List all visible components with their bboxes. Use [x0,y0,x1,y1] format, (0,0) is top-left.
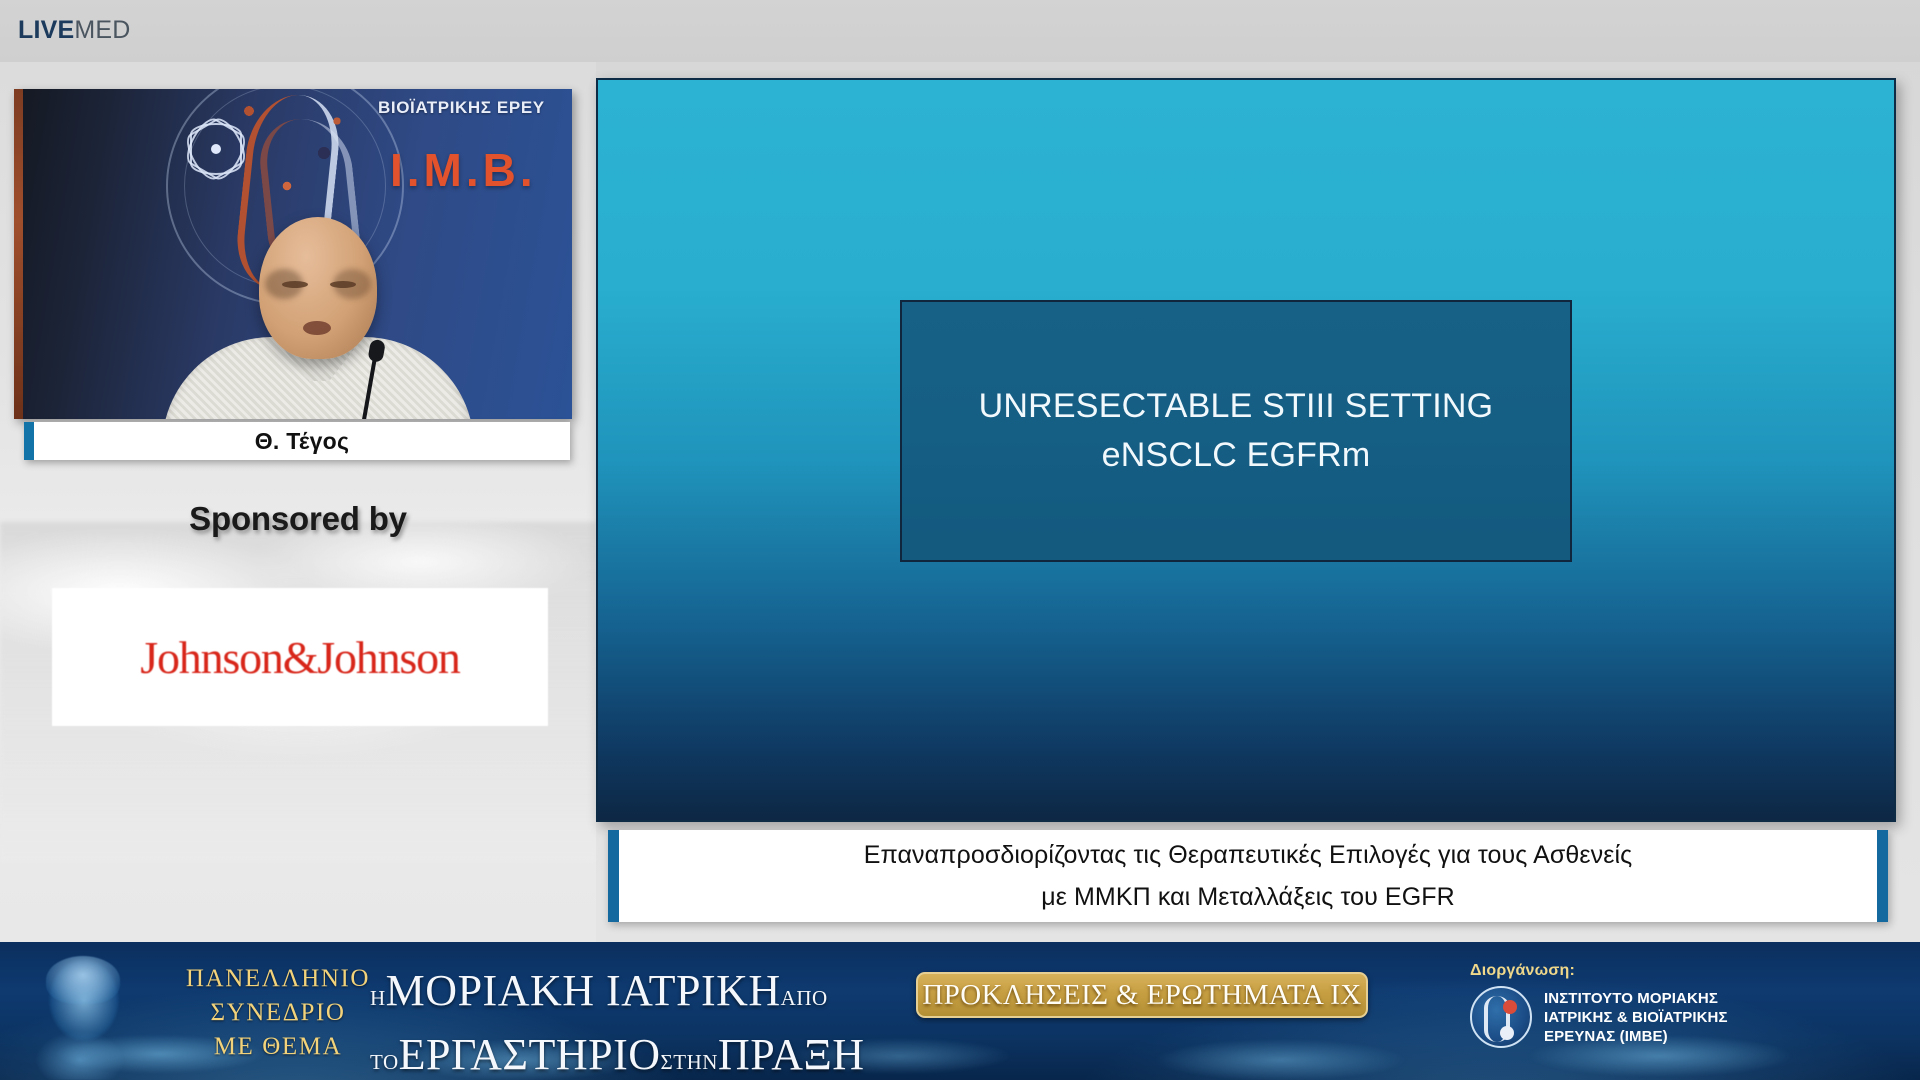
speaker-video-tile[interactable]: ΒΙΟΪΑΤΡΙΚΗΣ ΕΡΕΥ I.M.B. [14,89,572,419]
brand-strong: LIVE [18,16,74,44]
backdrop-line-2: ΒΙΟΪΑΤΡΙΚΗΣ ΕΡΕΥ [378,95,572,121]
speaker-video-frame: ΒΙΟΪΑΤΡΙΚΗΣ ΕΡΕΥ I.M.B. [14,89,572,419]
imbe-seal-icon [1470,986,1532,1048]
conference-subtitle-line-2: ΣΥΝΕΔΡΙΟ [168,996,388,1030]
speaker-name: Θ. Τέγος [255,428,350,455]
session-title-line-2: με ΜΜΚΠ και Μεταλλάξεις του EGFR [1041,876,1455,918]
session-title-bar: Επαναπροσδιορίζοντας τις Θεραπευτικές Επ… [608,830,1888,922]
conference-title: ΗΜΟΡΙΑΚΗ ΙΑΤΡΙΚΗΑΠΟ ΤΟΕΡΓΑΣΤΗΡΙΟΣΤΗΝΠΡΑΞ… [370,964,850,1080]
backdrop-acronym: I.M.B. [390,143,537,197]
session-title-line-1: Επαναπροσδιορίζοντας τις Θεραπευτικές Επ… [864,834,1633,876]
conference-title-main-3: ΠΡΑΞΗ [718,1030,865,1079]
conference-title-row-2: ΤΟΕΡΓΑΣΤΗΡΙΟΣΤΗΝΠΡΑΞΗ [370,1028,850,1080]
atom-icon [184,117,248,181]
presentation-slide[interactable]: UNRESECTABLE STIII SETTING eNSCLC EGFRm [596,78,1896,822]
hippocrates-bust-icon [18,948,148,1080]
conference-edition-badge: ΠΡΟΚΛΗΣΕΙΣ & ΕΡΩΤΗΜΑΤΑ ΙΧ [916,972,1368,1018]
conference-title-row-1: ΗΜΟΡΙΑΚΗ ΙΑΤΡΙΚΗΑΠΟ [370,964,850,1028]
organizer-name-line-3: ΕΡΕΥΝΑΣ (ΙΜΒΕ) [1544,1027,1728,1046]
organizer-block: Διοργάνωση: ΙΝΣΤΙΤΟΥΤΟ ΜΟΡΙΑΚΗΣ ΙΑΤΡΙΚΗΣ… [1470,962,1890,1048]
conference-title-article-2: ΤΟ [370,1050,399,1074]
conference-title-main-1: ΜΟΡΙΑΚΗ ΙΑΤΡΙΚΗ [386,966,781,1015]
brand-light: MED [74,16,130,44]
organizer-label: Διοργάνωση: [1470,962,1890,980]
slide-background: UNRESECTABLE STIII SETTING eNSCLC EGFRm [596,78,1896,822]
conference-subtitle: ΠΑΝΕΛΛΗΝΙΟ ΣΥΝΕΔΡΙΟ ΜΕ ΘΕΜΑ [168,962,388,1064]
organizer-name-line-2: ΙΑΤΡΙΚΗΣ & ΒΙΟΪΑΤΡΙΚΗΣ [1544,1008,1728,1027]
organizer-name: ΙΝΣΤΙΤΟΥΤΟ ΜΟΡΙΑΚΗΣ ΙΑΤΡΙΚΗΣ & ΒΙΟΪΑΤΡΙΚ… [1544,989,1728,1046]
conference-title-suffix-2: ΣΤΗΝ [661,1050,718,1074]
conference-subtitle-line-1: ΠΑΝΕΛΛΗΝΙΟ [168,962,388,996]
top-bar: LIVEMED [0,0,1920,62]
sponsor-logo-text: Johnson&Johnson [140,631,459,684]
slide-line-1: UNRESECTABLE STIII SETTING [979,387,1494,426]
slide-line-2: eNSCLC EGFRm [1102,436,1371,475]
wood-strip [14,89,23,419]
livemed-logo[interactable]: LIVEMED [18,16,131,45]
slide-text-box: UNRESECTABLE STIII SETTING eNSCLC EGFRm [900,300,1572,562]
conference-title-article-1: Η [370,986,386,1010]
conference-title-suffix-1: ΑΠΟ [781,986,828,1010]
speaker-mouth [303,321,331,335]
speaker-nameplate: Θ. Τέγος [24,422,570,460]
speaker-eyes [282,281,356,289]
conference-edition-text: ΠΡΟΚΛΗΣΕΙΣ & ΕΡΩΤΗΜΑΤΑ ΙΧ [922,979,1361,1012]
conference-subtitle-line-3: ΜΕ ΘΕΜΑ [168,1030,388,1064]
sponsored-by-label: Sponsored by [0,500,596,538]
conference-title-main-2: ΕΡΓΑΣΤΗΡΙΟ [399,1030,661,1079]
webcast-stage: LIVEMED ΒΙΟΪΑΤΡΙΚΗΣ ΕΡΕΥ I.M.B. Θ. Τέγος [0,0,1920,1080]
sponsor-logo[interactable]: Johnson&Johnson [52,588,548,726]
organizer-name-line-1: ΙΝΣΤΙΤΟΥΤΟ ΜΟΡΙΑΚΗΣ [1544,989,1728,1008]
